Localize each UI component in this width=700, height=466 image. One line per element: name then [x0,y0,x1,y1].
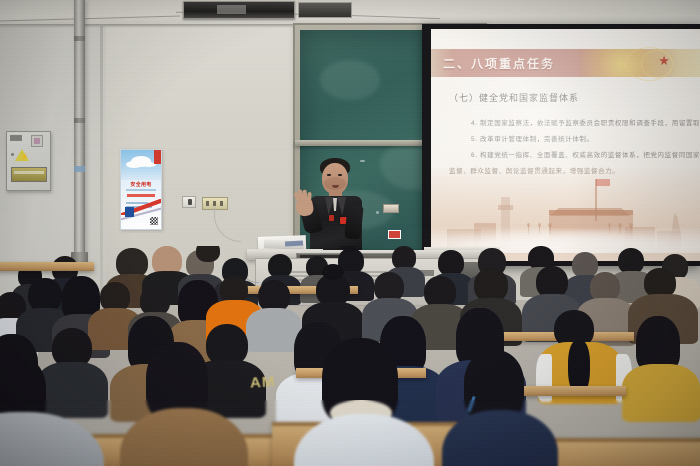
red-chalk-box[interactable] [388,230,401,239]
ceiling-vent-panel-secondary-icon [298,2,352,18]
socket-hole-3 [220,201,223,206]
presenter-finger-3 [302,190,306,199]
poster-logo-icon [125,207,134,217]
socket-hole-1 [206,201,209,206]
audience-area: AM [0,246,700,466]
cloud-icon [131,156,151,167]
presenter[interactable] [300,155,374,250]
chalk-smudge-1 [320,60,380,100]
presenter-eye-right [338,174,342,176]
head [474,268,508,302]
lecture-hall-photo: ⚡ 安全用电 [0,0,700,466]
chalk-mark-5 [376,211,379,214]
body [622,364,700,422]
panel-terminal-strip [10,135,22,141]
ceiling-vent-panel-icon [183,1,295,19]
panel-screw [11,153,14,156]
skyline-flagpole [595,179,597,221]
desk-back-left [0,262,94,271]
poster-corner-flag [154,150,161,164]
poster-text-line-2 [127,194,155,197]
red-star-icon: ★ [658,54,670,67]
slide-bullet-1: 4. 制定国家监察法，依法赋予监察委员会职责权限和调查手段，用留置取代"两 [471,117,700,127]
wall-socket-left[interactable] [182,196,196,208]
pipe-band-mid [74,118,85,123]
electrical-panel[interactable]: ⚡ [6,131,51,191]
projection-screen[interactable]: ★ 二、八项重点任务 （七）健全党和国家监督体系 4. 制定国家监察法，依法赋予… [431,29,700,261]
head [28,278,62,312]
slide-bullet-2: 5. 改革审计管理体制，完善统计体制。 [471,133,594,143]
pipe-blue-marker [74,166,85,172]
lightning-bolt-icon: ⚡ [20,154,29,161]
poster-text-line-1 [126,189,156,191]
panel-indicator-window [31,135,43,147]
qr-code-icon [150,217,158,225]
hair-bun [322,264,344,280]
socket-hole-2 [213,201,216,206]
wall-poster[interactable]: 安全用电 [120,149,162,230]
slide-title: 二、八项重点任务 [443,55,555,72]
panel-label-window [11,167,47,182]
presenter-finger-4 [307,192,311,201]
jacket-graphic-text: AM [250,373,276,391]
slide-subtitle: （七）健全党和国家监督体系 [449,91,579,104]
skyline-gate-roof [544,208,636,216]
slide-bullet-3: 6. 构建党统一指挥、全面覆盖、权威高效的监督体系，把党内监督同国家机关监 [471,149,700,159]
body [0,412,104,466]
presenter-face-shadow [324,177,346,190]
presenter-lapel-pin [329,215,334,221]
poster-headline: 安全用电 [121,181,161,188]
pipe-band-upper [74,36,85,41]
presenter-eye-left [327,174,331,176]
chalk-eraser[interactable] [383,204,399,213]
head [196,246,220,262]
body [36,362,108,418]
